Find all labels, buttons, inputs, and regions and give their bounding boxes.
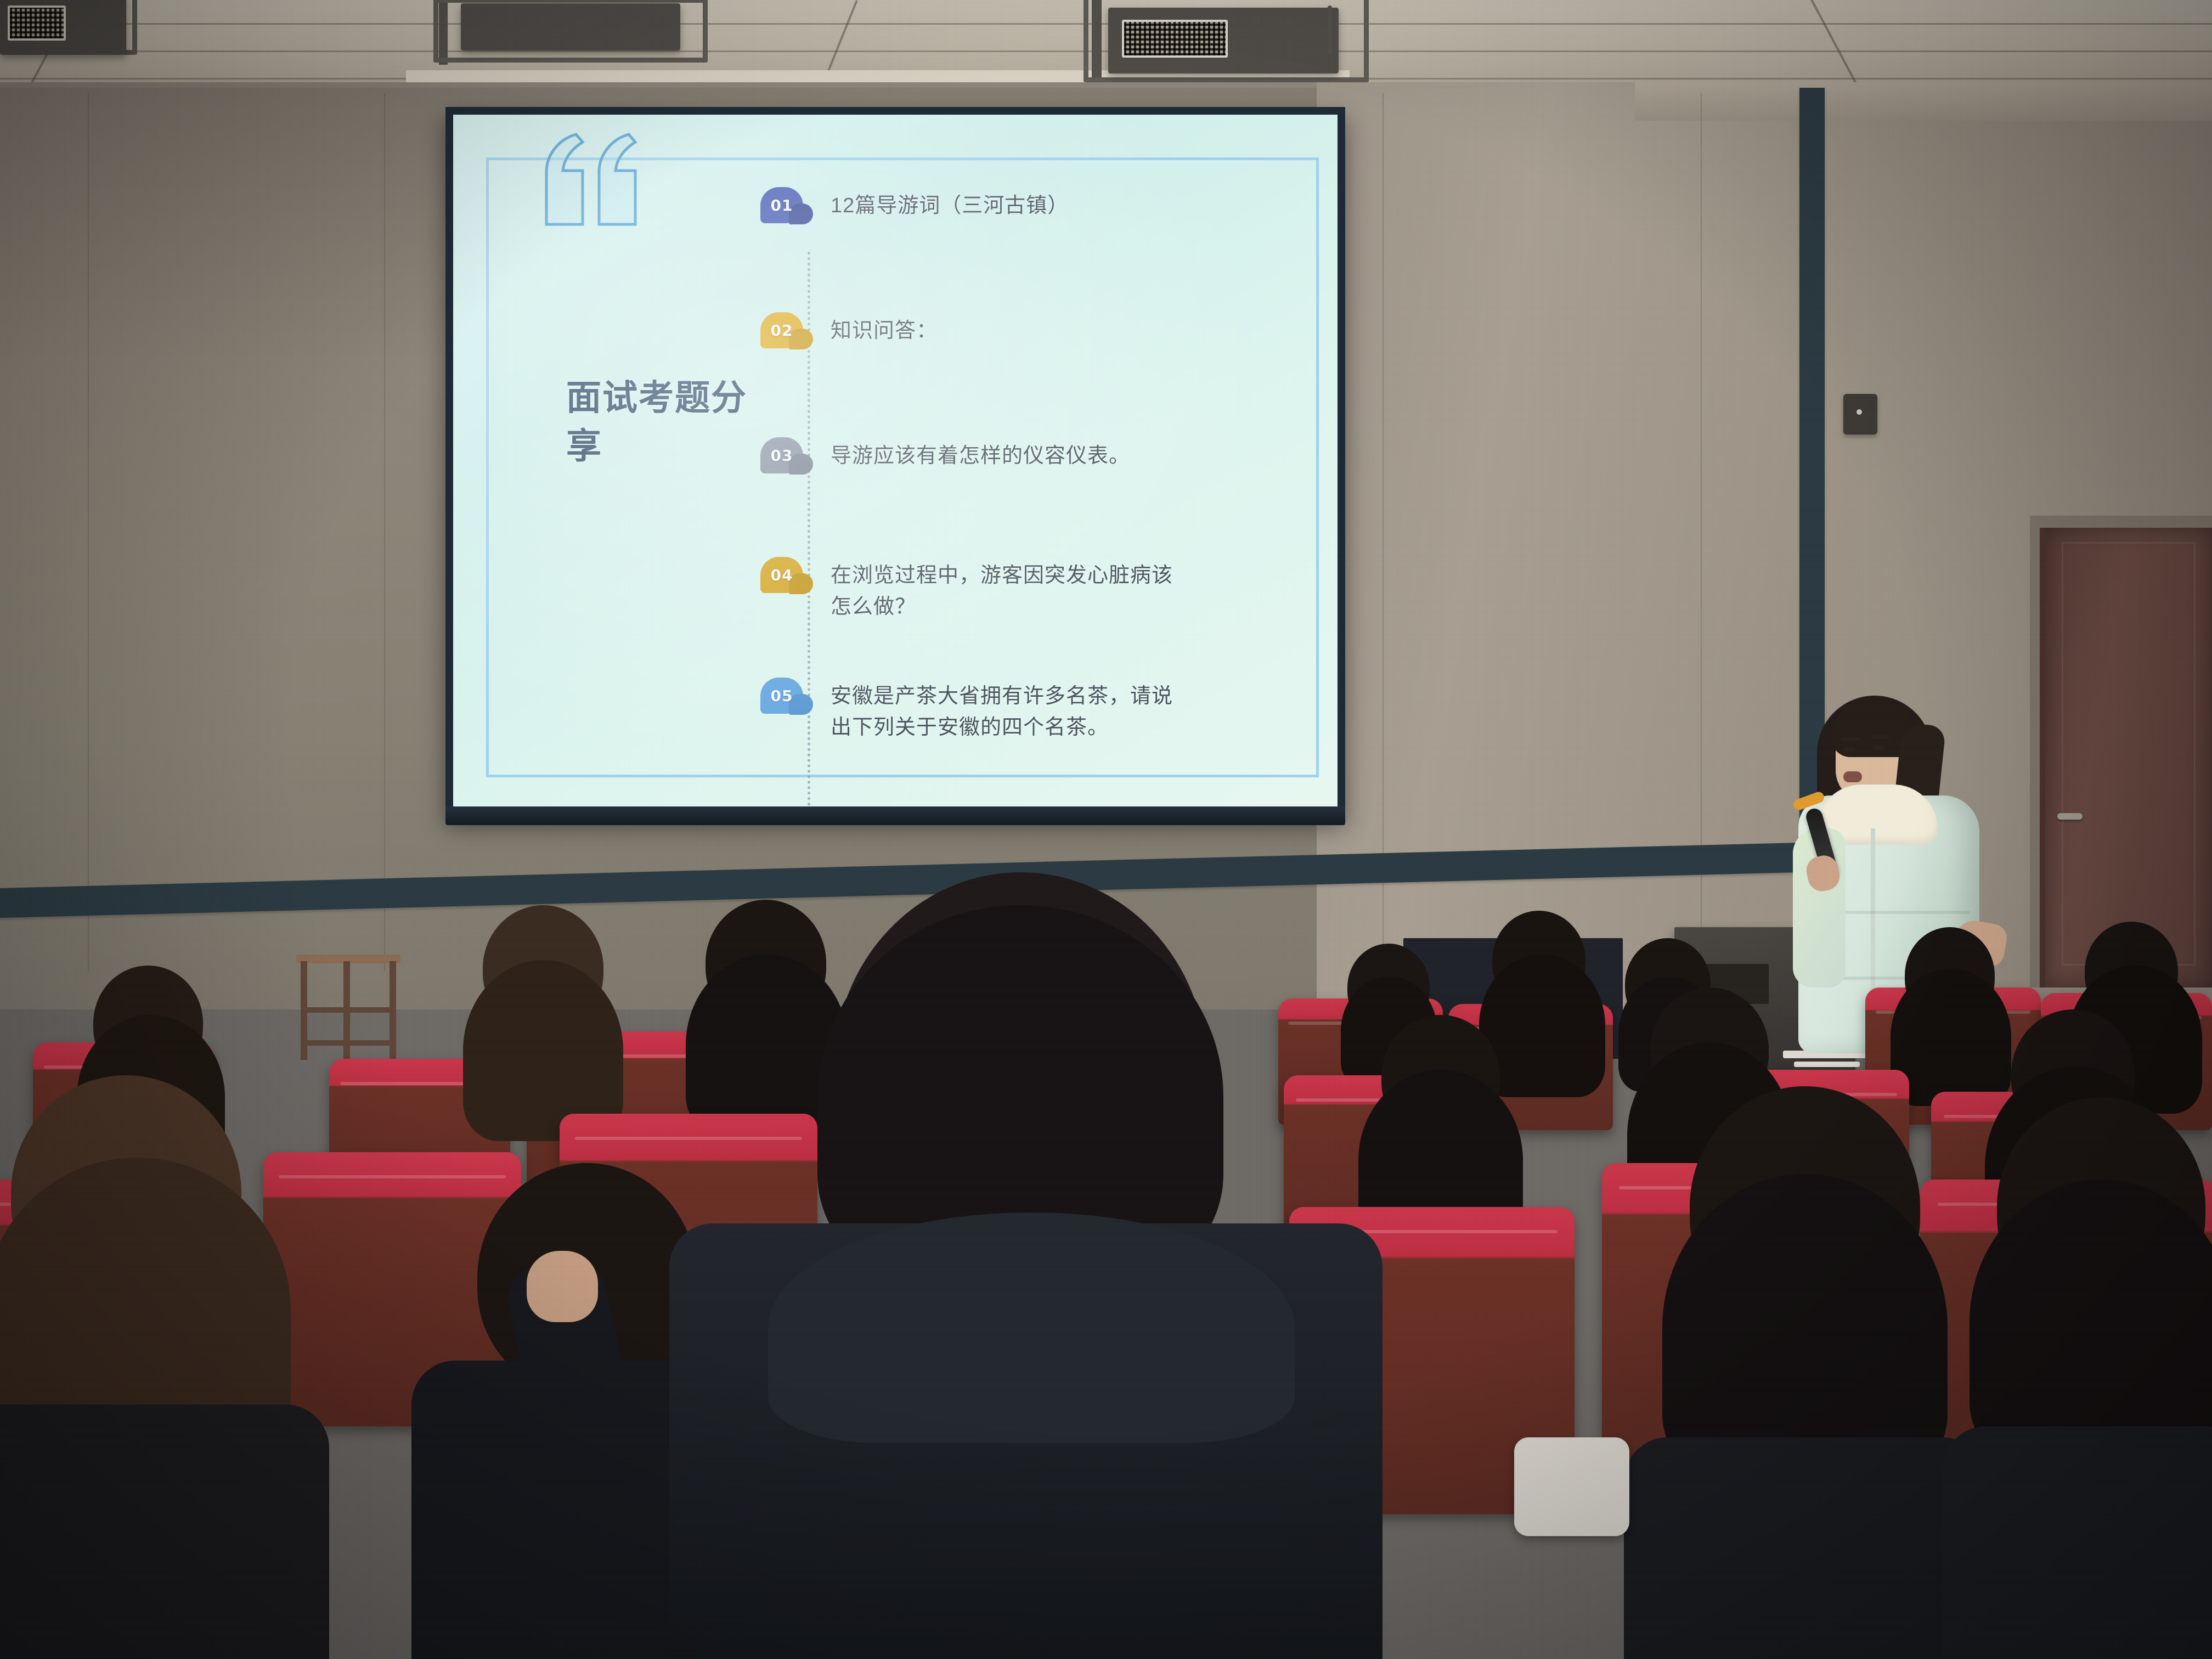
slide-item-01: 01 12篇导游词（三河古镇）: [760, 187, 1069, 230]
slide-item-04: 04 在浏览过程中，游客因突发心脏病该怎么做？: [760, 557, 1182, 623]
item-text: 导游应该有着怎样的仪容仪表。: [831, 441, 1130, 472]
item-badge-05: 05: [760, 678, 813, 720]
coat: [1624, 1437, 1986, 1659]
item-number: 04: [760, 557, 803, 593]
door-handle[interactable]: [2057, 813, 2083, 820]
hood: [768, 1212, 1295, 1443]
hand: [527, 1251, 598, 1322]
item-number: 01: [760, 187, 803, 223]
slide-title: 面试考题分享: [566, 374, 764, 471]
coat: [1942, 1426, 2212, 1659]
presenter-brow: [1841, 737, 1860, 741]
item-badge-02: 02: [760, 312, 813, 355]
secondary-ceiling-device: [461, 3, 680, 50]
item-text: 知识问答：: [831, 315, 938, 347]
item-badge-04: 04: [760, 557, 813, 600]
quotation-mark-icon: [528, 130, 670, 229]
audience-member: [450, 905, 631, 1141]
audience-member-far-right: [1953, 1097, 2212, 1659]
slide-item-03: 03 导游应该有着怎样的仪容仪表。: [760, 437, 1130, 480]
item-number: 03: [760, 437, 803, 473]
projection-screen: 面试考题分享 01 12篇导游词（三河古镇） 02 知识问答：: [445, 107, 1345, 815]
stool-rung: [302, 1007, 395, 1013]
wooden-stool[interactable]: [296, 955, 400, 1075]
presenter-eye: [1843, 747, 1855, 752]
wall-seam: [384, 93, 385, 971]
presenter-eye: [1873, 745, 1885, 750]
item-badge-03: 03: [760, 437, 813, 480]
hair: [1662, 1174, 1948, 1481]
speaker-grille-icon: [8, 5, 66, 41]
exit-door[interactable]: [2040, 528, 2212, 988]
coat: [0, 1404, 329, 1659]
projector-cable: [1328, 5, 1332, 55]
item-text: 12篇导游词（三河古镇）: [831, 190, 1069, 222]
presentation-slide: 面试考题分享 01 12篇导游词（三河古镇） 02 知识问答：: [453, 115, 1338, 807]
white-object: [1514, 1437, 1629, 1536]
item-text: 安徽是产茶大省拥有许多名茶，请说出下列关于安徽的四个名茶。: [831, 681, 1182, 743]
right-soffit: [1635, 82, 2212, 121]
ceiling-speaker: [0, 0, 126, 55]
wall-camera: [1843, 394, 1877, 435]
wall-seam: [1383, 93, 1384, 971]
presenter-mouth: [1843, 771, 1862, 782]
item-badge-01: 01: [760, 187, 813, 230]
wall-seam: [88, 93, 89, 971]
audience-member-center-foreground: [702, 872, 1350, 1659]
audience-member-front-left: [0, 1075, 318, 1659]
stool-rung: [302, 1040, 395, 1046]
item-number: 05: [760, 678, 803, 714]
ceiling-projector: [1108, 8, 1339, 74]
slide-item-05: 05 安徽是产茶大省拥有许多名茶，请说出下列关于安徽的四个名茶。: [760, 678, 1182, 743]
camera-lens-icon: [1857, 409, 1862, 415]
wall-seam: [1701, 93, 1702, 971]
item-text: 在浏览过程中，游客因突发心脏病该怎么做？: [831, 560, 1182, 623]
projector-vent-icon: [1122, 20, 1228, 58]
screen-bottom-bar: [445, 806, 1345, 825]
item-number: 02: [760, 312, 803, 348]
door-panel: [2062, 542, 2196, 966]
audience-member-front-right: [1635, 1086, 1975, 1659]
slide-item-02: 02 知识问答：: [760, 312, 938, 355]
lecture-hall-photo: THINKELEMENS 面试考题分享: [0, 0, 2212, 1659]
presenter-brow: [1871, 735, 1889, 739]
